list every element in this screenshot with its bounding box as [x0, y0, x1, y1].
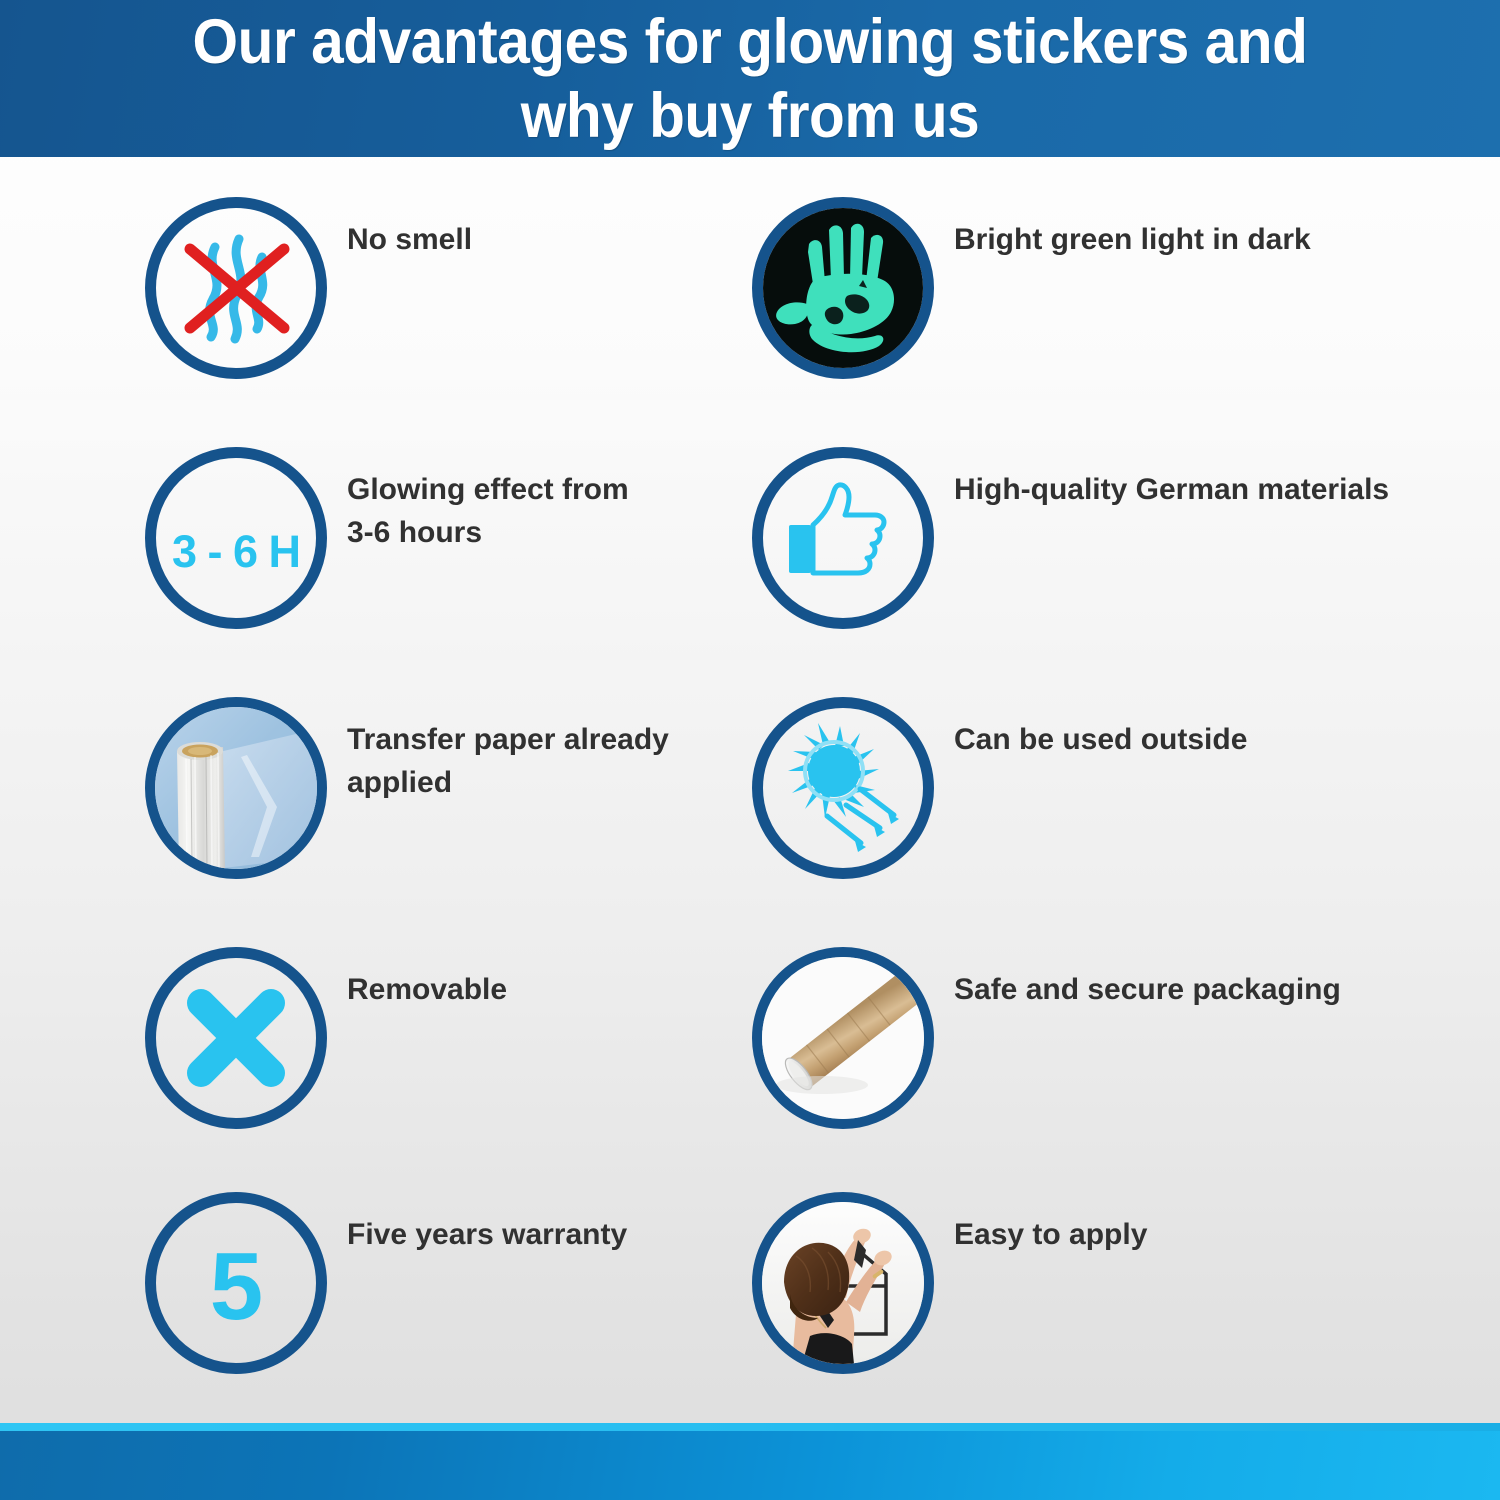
feature-german-materials[interactable]: High-quality German materials [752, 447, 1389, 629]
woman-applying-decal-photo [752, 1192, 934, 1374]
feature-label: High-quality German materials [954, 447, 1389, 511]
icon-ring [752, 197, 934, 379]
feature-label: Easy to apply [954, 1192, 1147, 1256]
feature-secure-packaging[interactable]: Safe and secure packaging [752, 947, 1341, 1129]
feature-bright-green-light[interactable]: Bright green light in dark [752, 197, 1311, 379]
feature-used-outside[interactable]: Can be used outside [752, 697, 1247, 879]
feature-label: Removable [347, 947, 507, 1011]
feature-glowing-effect-hours[interactable]: 3 - 6 H Glowing effect from 3-6 hours [145, 447, 629, 629]
hours-label: 3 - 6 H [145, 447, 327, 643]
cross-x-icon [145, 947, 327, 1129]
feature-no-smell[interactable]: No smell [145, 197, 472, 379]
bottom-accent-strip [0, 1423, 1500, 1431]
icon-ring [145, 697, 327, 879]
bottom-band [0, 1423, 1500, 1500]
page-title: Our advantages for glowing stickers and … [53, 5, 1448, 153]
infographic-page: Our advantages for glowing stickers and … [0, 0, 1500, 1500]
transfer-paper-roll-glyph [155, 707, 317, 869]
five-label: 5 [145, 1192, 327, 1378]
number-five-icon: 5 [145, 1192, 327, 1374]
feature-label: Glowing effect from 3-6 hours [347, 447, 629, 554]
hours-3-6-icon: 3 - 6 H [145, 447, 327, 629]
sun-rays-icon [752, 697, 934, 879]
no-smell-icon [145, 197, 327, 379]
cross-x-glyph [145, 947, 327, 1129]
glowing-handprint-icon [752, 197, 934, 379]
mailing-tube-photo [752, 947, 934, 1129]
feature-label: Bright green light in dark [954, 197, 1311, 261]
woman-applying-decal-glyph [762, 1202, 924, 1364]
sun-rays-glyph [752, 697, 934, 879]
glowing-handprint-glyph [763, 208, 923, 368]
header-banner: Our advantages for glowing stickers and … [0, 0, 1500, 157]
feature-label: Transfer paper already applied [347, 697, 669, 804]
no-smell-glyph [145, 197, 327, 379]
icon-ring [752, 1192, 934, 1374]
feature-label: Five years warranty [347, 1192, 627, 1256]
feature-label: Safe and secure packaging [954, 947, 1341, 1011]
thumbs-up-glyph [752, 447, 934, 629]
bottom-gradient-bar [0, 1431, 1500, 1500]
icon-ring [752, 947, 934, 1129]
feature-removable[interactable]: Removable [145, 947, 507, 1129]
mailing-tube-glyph [762, 957, 924, 1119]
thumbs-up-icon [752, 447, 934, 629]
feature-five-years-warranty[interactable]: 5 Five years warranty [145, 1192, 627, 1374]
features-grid: No smell [0, 157, 1500, 1417]
feature-label: No smell [347, 197, 472, 261]
feature-label: Can be used outside [954, 697, 1247, 761]
transfer-paper-roll-photo [145, 697, 327, 879]
feature-easy-to-apply[interactable]: Easy to apply [752, 1192, 1147, 1374]
feature-transfer-paper[interactable]: Transfer paper already applied [145, 697, 669, 879]
